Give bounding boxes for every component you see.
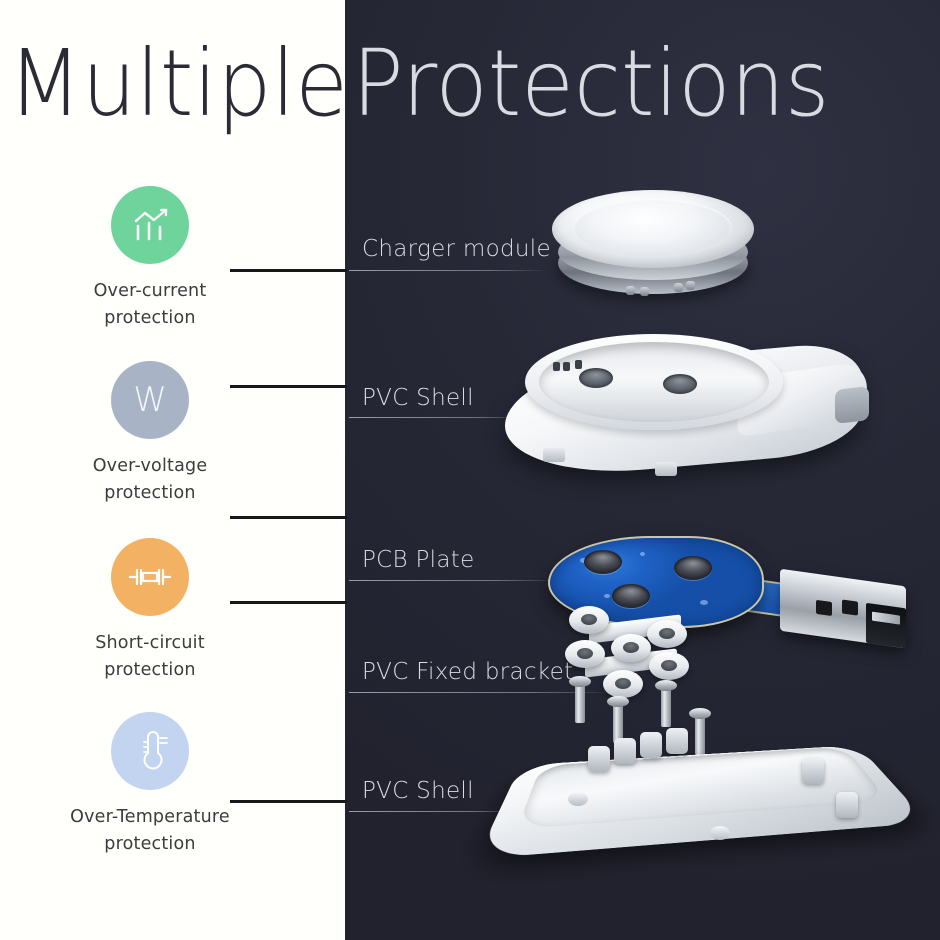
page-title-part-2: Protections	[352, 34, 829, 134]
pvc-shell-top-vent	[563, 362, 570, 371]
pcb-plate-hole	[584, 550, 622, 574]
bracket-screw-head	[655, 680, 677, 691]
usb-connector-slot	[842, 599, 858, 615]
over-temperature-label-line2: protection	[0, 831, 300, 858]
charger-module-pin	[640, 287, 649, 296]
over-voltage-label-line2: protection	[0, 480, 300, 507]
leader-line-charger-module	[230, 269, 347, 272]
pvc-shell-bottom-screw-boss	[710, 826, 730, 840]
leader-line-pvc-fixed-bracket	[230, 601, 347, 604]
part-label-pvc-shell-bottom: PVC Shell	[362, 777, 474, 805]
feature-over-current: Over-current protection	[0, 186, 300, 332]
pvc-shell-top-recess	[539, 342, 769, 422]
over-temperature-icon-circle	[111, 712, 189, 790]
pvc-shell-top-notch	[835, 386, 869, 424]
charger-module-pin	[686, 281, 695, 290]
over-temperature-label: Over-Temperature protection	[0, 804, 300, 858]
bracket-plate-upper-eyelet	[647, 620, 687, 648]
usb-connector-mouth	[866, 603, 906, 649]
part-label-pcb-plate: PCB Plate	[362, 546, 475, 574]
short-circuit-label: Short-circuit protection	[0, 630, 300, 684]
bracket-plate-lower-eyelet	[603, 670, 643, 698]
pvc-shell-top-vent	[553, 362, 560, 371]
leader-line-pvc-shell-bottom	[230, 800, 347, 803]
part-label-charger-module: Charger module	[362, 235, 551, 263]
bracket-plate-upper-eyelet	[569, 606, 609, 634]
over-temperature-label-line1: Over-Temperature	[70, 807, 230, 827]
over-current-label-line1: Over-current	[94, 281, 207, 301]
feature-over-voltage: W Over-voltage protection	[0, 361, 300, 507]
pcb-plate-hole	[612, 584, 650, 608]
resistor-circuit-icon	[126, 564, 174, 590]
bracket-plate-lower	[571, 646, 691, 680]
pcb-solder-speck	[604, 594, 610, 598]
product-pvc-shell-top	[505, 330, 875, 490]
pcb-plate-hole	[674, 556, 712, 580]
part-underline-charger-module	[349, 270, 548, 271]
page-title-part-1: Multiple	[8, 34, 348, 134]
short-circuit-icon-circle	[111, 538, 189, 616]
pvc-shell-bottom-post	[588, 746, 610, 772]
over-voltage-label: Over-voltage protection	[0, 453, 300, 507]
feature-over-temperature: Over-Temperature protection	[0, 712, 300, 858]
part-underline-pcb-plate	[349, 580, 561, 581]
feature-short-circuit: Short-circuit protection	[0, 538, 300, 684]
infographic-canvas: Multiple Protections Over-current protec…	[0, 0, 940, 940]
product-charger-module	[540, 186, 765, 306]
over-voltage-icon-circle: W	[111, 361, 189, 439]
pvc-shell-top-vent	[575, 360, 582, 369]
part-underline-pvc-shell-top	[349, 417, 531, 418]
pvc-shell-top-foot	[543, 448, 565, 462]
pvc-shell-top-hole	[663, 374, 697, 394]
thermometer-icon	[130, 729, 170, 773]
product-pvc-shell-bottom	[510, 706, 910, 886]
pvc-shell-bottom-post	[836, 792, 858, 818]
short-circuit-label-line2: protection	[0, 657, 300, 684]
pvc-shell-bottom-post	[802, 758, 824, 784]
pcb-solder-speck	[640, 552, 645, 556]
short-circuit-label-line1: Short-circuit	[95, 633, 205, 653]
leader-line-pcb-plate	[230, 516, 347, 519]
over-voltage-label-line1: Over-voltage	[93, 456, 208, 476]
over-current-label: Over-current protection	[0, 278, 300, 332]
bracket-screw-head	[569, 676, 591, 687]
pvc-shell-bottom-post	[614, 738, 636, 764]
charger-module-inner-ring	[574, 199, 732, 257]
pvc-shell-bottom-post	[640, 732, 662, 758]
pcb-solder-speck	[700, 600, 708, 605]
charger-module-pin	[674, 283, 683, 292]
bracket-plate-lower-eyelet	[565, 640, 605, 668]
part-label-pvc-shell-top: PVC Shell	[362, 384, 474, 412]
pvc-shell-top-foot	[655, 462, 677, 476]
pvc-shell-bottom-post	[666, 728, 688, 754]
bracket-plate-lower-eyelet	[611, 634, 651, 662]
pvc-shell-top-hole	[579, 368, 613, 388]
over-current-label-line2: protection	[0, 305, 300, 332]
bracket-plate-lower-eyelet	[649, 652, 689, 680]
part-label-pvc-fixed-bracket: PVC Fixed bracket	[362, 658, 573, 686]
over-current-icon-circle	[111, 186, 189, 264]
bar-chart-trend-icon	[128, 205, 172, 245]
charger-module-pin	[626, 286, 635, 295]
pvc-shell-bottom-screw-boss	[568, 792, 588, 806]
watt-letter-icon: W	[133, 383, 167, 417]
leader-line-pvc-shell-top	[230, 385, 347, 388]
usb-connector-slot	[816, 600, 832, 616]
